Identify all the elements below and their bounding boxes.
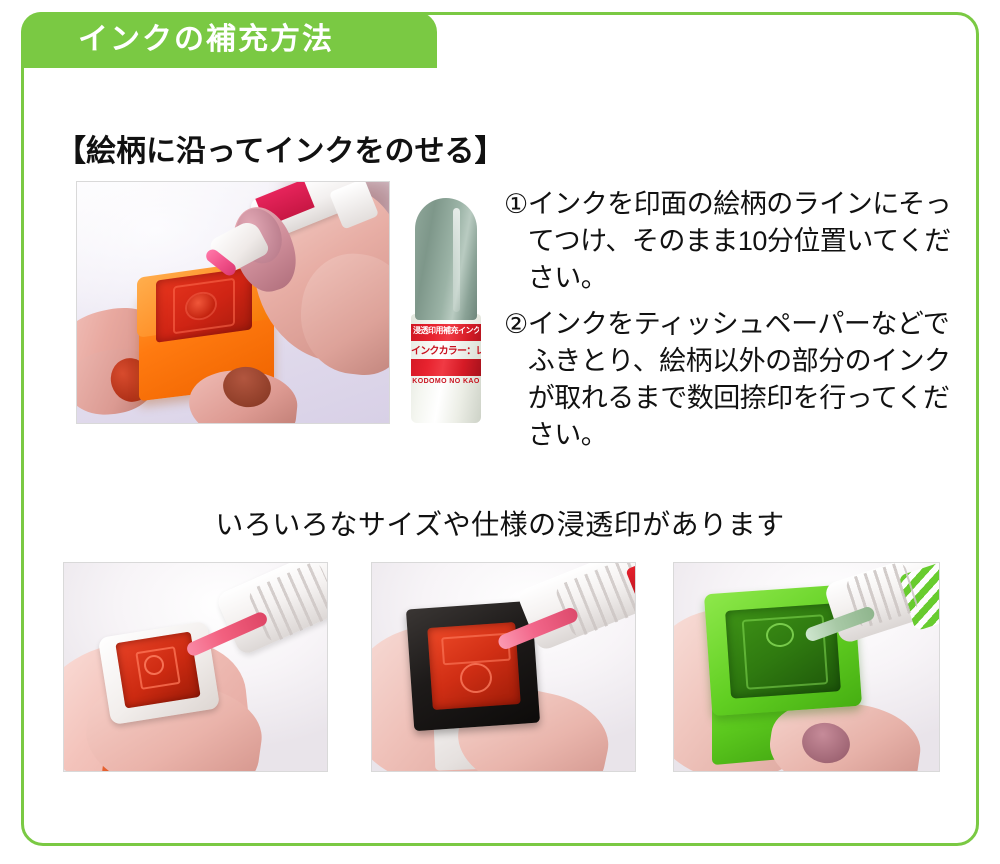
ink-bottle-label-top-text: 浸透印用補充インク (413, 325, 479, 336)
ink-bottle-cap-highlight (453, 208, 460, 312)
ink-bottle-cap-green (415, 198, 477, 320)
step-text: インクをティッシュペーパーなどでふきとり、絵柄以外の部分のインクが取れるまで数回… (528, 306, 956, 454)
step-marker: ① (504, 186, 528, 297)
content-area: 【絵柄に沿ってインクをのせる】 (0, 0, 1000, 864)
instruction-step: ② インクをティッシュペーパーなどでふきとり、絵柄以外の部分のインクが取れるまで… (504, 306, 956, 454)
photo-variant-black-stamp (371, 562, 636, 772)
instruction-steps: ① インクを印面の絵柄のラインにそってつけ、そのまま10分位置いてください。 ②… (504, 186, 956, 463)
gallery-caption: いろいろなサイズや仕様の浸透印があります (0, 503, 1000, 543)
section-heading: 【絵柄に沿ってインクをのせる】 (56, 126, 505, 170)
photo-main-ink-refill (76, 181, 390, 424)
step-marker: ② (504, 306, 528, 454)
ink-bottle-label-color-text: インクカラー：レッド (411, 342, 481, 357)
photo-variant-green-stamp (673, 562, 940, 772)
ink-bottle-product-image: 浸透印用補充インク インクカラー：レッド KODOMO NO KAO (409, 198, 483, 423)
page-root: インクの補充方法 【絵柄に沿ってインクをのせる】 (0, 0, 1000, 864)
ink-bottle-label-brand-text: KODOMO NO KAO (411, 378, 481, 385)
step-text: インクを印面の絵柄のラインにそってつけ、そのまま10分位置いてください。 (528, 186, 956, 297)
instruction-step: ① インクを印面の絵柄のラインにそってつけ、そのまま10分位置いてください。 (504, 186, 956, 297)
photo-variant-white-stamp (63, 562, 328, 772)
